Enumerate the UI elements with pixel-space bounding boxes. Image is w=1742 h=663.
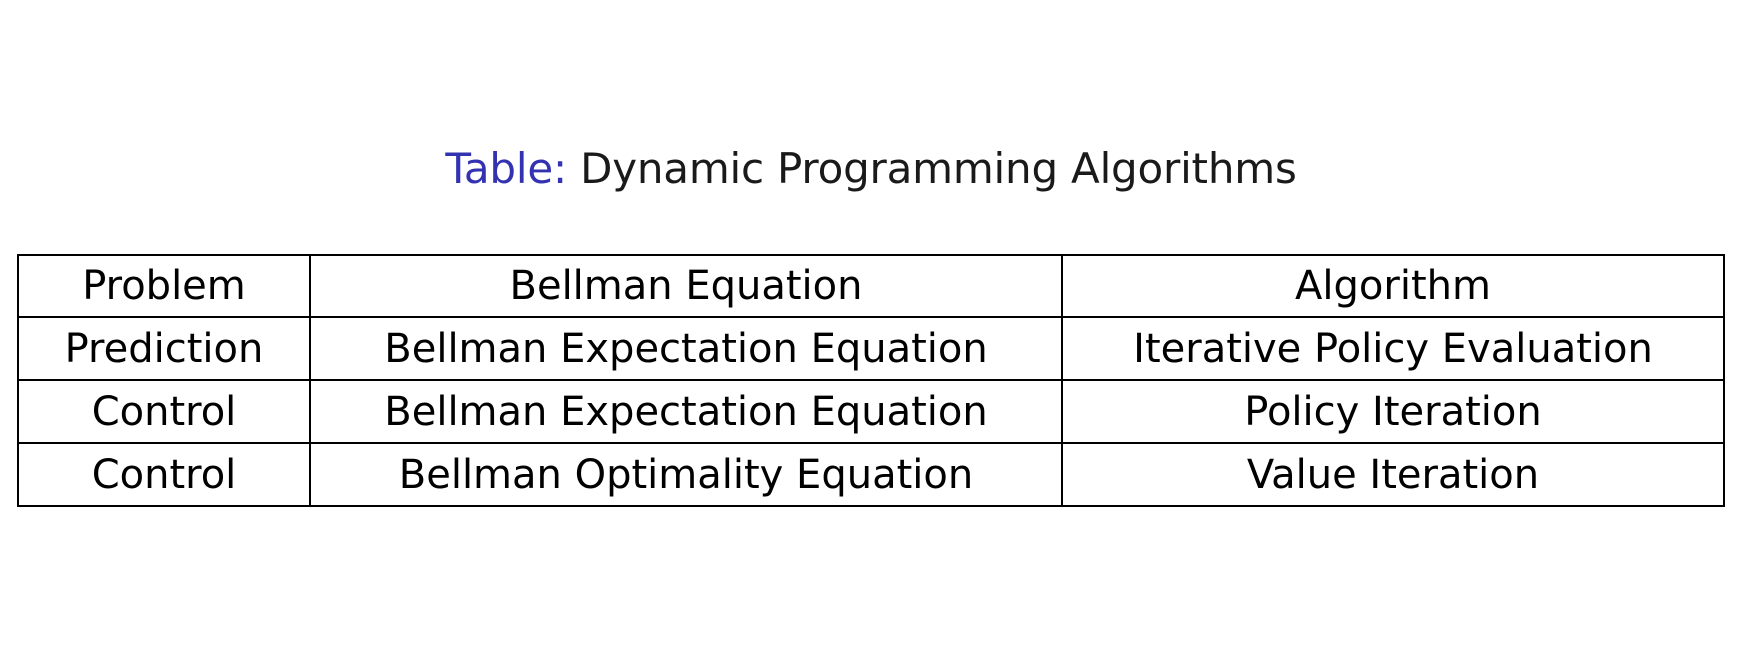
table-header-row: Problem Bellman Equation Algorithm [18, 255, 1724, 317]
column-header-bellman-equation: Bellman Equation [310, 255, 1062, 317]
slide-canvas: Table: Dynamic Programming Algorithms Pr… [0, 0, 1742, 663]
dp-algorithms-table: Problem Bellman Equation Algorithm Predi… [17, 254, 1725, 507]
cell-algorithm: Iterative Policy Evaluation [1062, 317, 1724, 380]
column-header-problem: Problem [18, 255, 310, 317]
cell-problem: Control [18, 380, 310, 443]
cell-problem: Prediction [18, 317, 310, 380]
table-row: Control Bellman Expectation Equation Pol… [18, 380, 1724, 443]
caption-title-text: Dynamic Programming Algorithms [580, 144, 1297, 193]
table-caption: Table: Dynamic Programming Algorithms [0, 142, 1742, 196]
table-row: Prediction Bellman Expectation Equation … [18, 317, 1724, 380]
cell-bellman-equation: Bellman Optimality Equation [310, 443, 1062, 506]
dp-algorithms-table-container: Problem Bellman Equation Algorithm Predi… [17, 254, 1723, 507]
cell-algorithm: Value Iteration [1062, 443, 1724, 506]
caption-label: Table: [445, 144, 567, 193]
caption-line: Table: Dynamic Programming Algorithms [445, 142, 1296, 196]
cell-bellman-equation: Bellman Expectation Equation [310, 380, 1062, 443]
cell-bellman-equation: Bellman Expectation Equation [310, 317, 1062, 380]
table-row: Control Bellman Optimality Equation Valu… [18, 443, 1724, 506]
caption-title [567, 144, 580, 193]
column-header-algorithm: Algorithm [1062, 255, 1724, 317]
cell-problem: Control [18, 443, 310, 506]
cell-algorithm: Policy Iteration [1062, 380, 1724, 443]
